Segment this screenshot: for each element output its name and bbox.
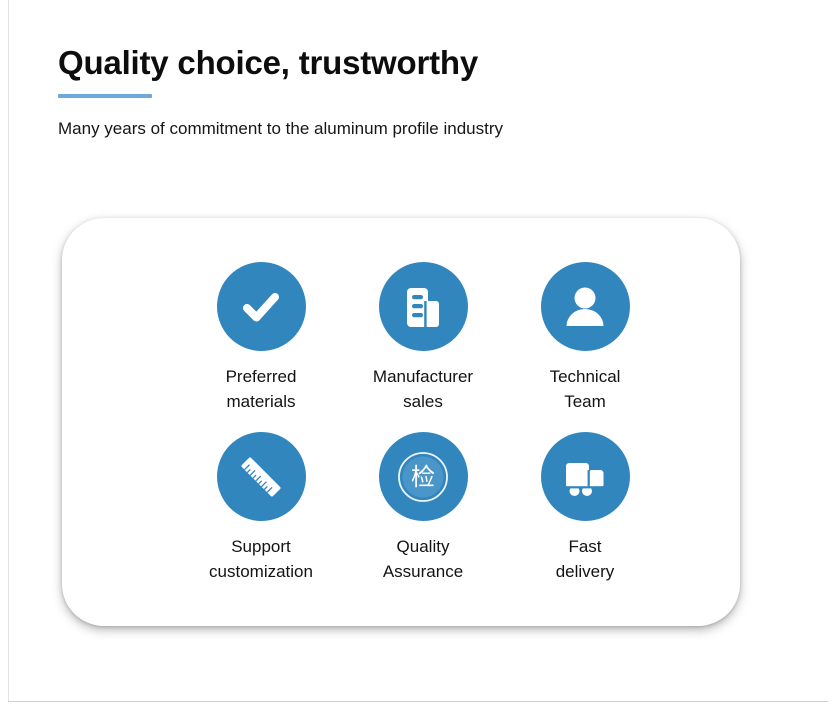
inspection-seal-icon-badge: 检 — [379, 432, 468, 521]
feature-label: Technical Team — [550, 365, 621, 414]
feature-technical-team[interactable]: Technical Team — [506, 262, 664, 432]
delivery-truck-icon-badge — [541, 432, 630, 521]
page-bottom-rule — [8, 701, 828, 702]
ruler-icon — [235, 451, 287, 503]
feature-manufacturer-sales[interactable]: Manufacturer sales — [344, 262, 502, 432]
person-icon-badge — [541, 262, 630, 351]
features-card: Preferred materials Manufacturer sales — [62, 218, 740, 626]
feature-label: Quality Assurance — [383, 535, 463, 584]
feature-label: Support customization — [209, 535, 313, 584]
feature-preferred-materials[interactable]: Preferred materials — [182, 262, 340, 432]
factory-building-icon — [399, 283, 447, 331]
feature-label: Manufacturer sales — [373, 365, 473, 414]
check-icon-badge — [217, 262, 306, 351]
page-left-rule — [8, 0, 9, 702]
feature-quality-assurance[interactable]: 检 Quality Assurance — [344, 432, 502, 602]
header: Quality choice, trustworthy Many years o… — [58, 44, 758, 140]
person-icon — [560, 282, 610, 332]
inspection-seal-glyph: 检 — [411, 463, 435, 491]
feature-label: Preferred materials — [226, 365, 297, 414]
inspection-seal-icon: 检 — [390, 444, 456, 510]
feature-support-customization[interactable]: Support customization — [182, 432, 340, 602]
delivery-truck-icon — [558, 450, 612, 504]
ruler-icon-badge — [217, 432, 306, 521]
page-title: Quality choice, trustworthy — [58, 44, 758, 82]
page-subtitle: Many years of commitment to the aluminum… — [58, 118, 758, 140]
features-grid: Preferred materials Manufacturer sales — [182, 262, 682, 602]
feature-fast-delivery[interactable]: Fast delivery — [506, 432, 664, 602]
check-icon — [235, 281, 287, 333]
feature-label: Fast delivery — [556, 535, 615, 584]
factory-building-icon-badge — [379, 262, 468, 351]
title-accent-rule — [58, 94, 152, 98]
